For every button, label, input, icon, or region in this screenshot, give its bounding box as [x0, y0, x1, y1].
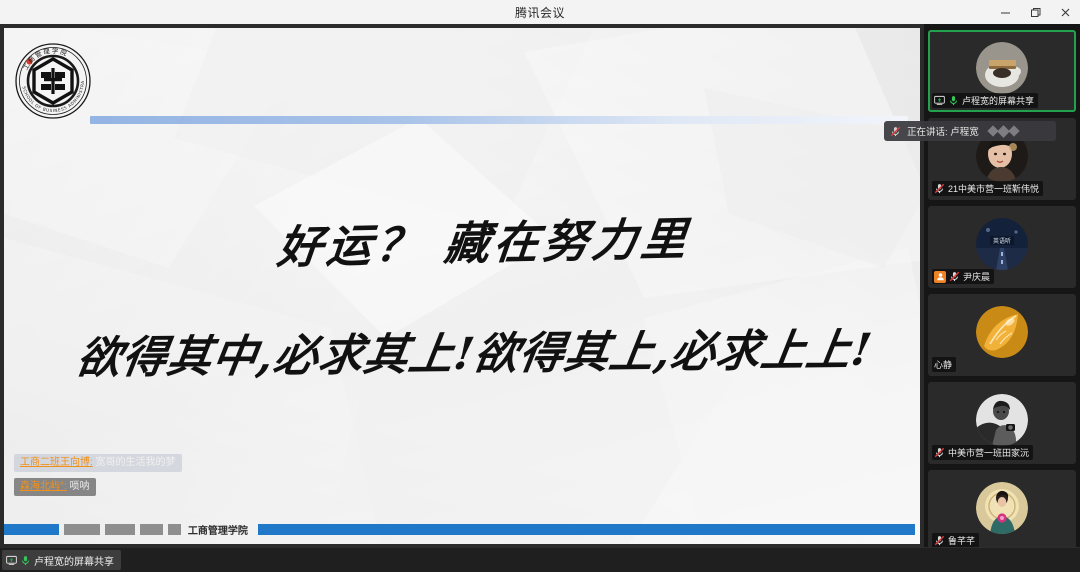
participant-name: 卢程宽的屏幕共享 — [962, 94, 1034, 107]
participant-name: 中美市营一班田家沅 — [948, 446, 1029, 459]
screen-share-icon — [934, 95, 945, 106]
muted-mic-icon — [949, 271, 960, 282]
chat-body: 唢呐 — [67, 481, 90, 492]
chat-overlay: 工商二班王向博: 宽哥的生活我的梦 森海北屿°: 唢呐 — [14, 452, 434, 500]
participant-tile[interactable]: 心静 — [928, 294, 1076, 376]
speaking-tooltip-text: 正在讲话: 卢程宽 — [907, 124, 979, 138]
slide-headline-primary: 好运？ 藏在努力里 — [275, 202, 694, 276]
close-button[interactable] — [1050, 0, 1080, 24]
participant-label: 中美市营一班田家沅 — [932, 445, 1033, 460]
footer-segment — [168, 524, 181, 535]
avatar — [976, 482, 1028, 534]
participant-name: 心静 — [934, 358, 952, 371]
chat-body: 宽哥的生活我的梦 — [93, 457, 176, 468]
participant-tile[interactable]: 英语听 尹庆晨 — [928, 206, 1076, 288]
footer-segment — [64, 524, 100, 535]
taskbar-item-screen-share[interactable]: 卢程宽的屏幕共享 — [2, 550, 121, 570]
taskbar-item-label: 卢程宽的屏幕共享 — [34, 553, 114, 568]
window-title: 腾讯会议 — [515, 4, 565, 21]
svg-text:英语听: 英语听 — [993, 237, 1011, 245]
mic-icon — [20, 555, 31, 566]
avatar — [976, 306, 1028, 358]
footer-segment — [105, 524, 135, 535]
participant-name: 鲁芊芊 — [948, 534, 975, 547]
participant-label: 心静 — [932, 357, 956, 372]
footer-label: 工商管理学院 — [188, 522, 248, 537]
mic-icon — [948, 95, 959, 106]
tencent-meeting-window: 腾讯会议 — [0, 0, 1080, 572]
shared-screen-stage: 工商管理学院 SCHOOL OF BUSINESS ADMINISTRATION… — [0, 24, 924, 548]
participants-panel[interactable]: 卢程宽的屏幕共享 — [924, 24, 1080, 548]
participant-label: 卢程宽的屏幕共享 — [932, 93, 1038, 108]
school-logo: 工商管理学院 SCHOOL OF BUSINESS ADMINISTRATION — [14, 42, 92, 120]
bw-portrait-photo-icon — [976, 394, 1028, 446]
road-photo-icon: 英语听 — [976, 218, 1028, 270]
restore-icon — [1030, 7, 1041, 18]
participant-tile[interactable]: 中美市营一班田家沅 — [928, 382, 1076, 464]
participant-name: 尹庆晨 — [963, 270, 990, 283]
participant-label: 鲁芊芊 — [932, 533, 979, 548]
minimize-button[interactable] — [990, 0, 1020, 24]
restore-button[interactable] — [1020, 0, 1050, 24]
participant-name: 21中美市营一班靳伟悦 — [948, 182, 1039, 195]
leaf-photo-icon — [976, 306, 1028, 358]
host-badge-icon — [934, 271, 946, 283]
slide-headline-secondary: 欲得其中,必求其上!欲得其上,必求上上! — [73, 314, 877, 386]
audio-wave-icon — [989, 127, 1018, 136]
avatar: 英语听 — [976, 218, 1028, 270]
footer-segment — [258, 524, 915, 535]
avatar — [976, 394, 1028, 446]
chat-sender: 工商二班王向博: — [20, 457, 93, 468]
screen-share-icon — [6, 555, 17, 566]
title-bar: 腾讯会议 — [0, 0, 1080, 25]
school-emblem-icon: 工商管理学院 SCHOOL OF BUSINESS ADMINISTRATION — [14, 42, 92, 120]
window-controls — [990, 0, 1080, 24]
slide-top-rule — [90, 116, 908, 124]
participant-label: 21中美市营一班靳伟悦 — [932, 181, 1043, 196]
footer-segment — [4, 524, 59, 535]
chat-message: 森海北屿°: 唢呐 — [14, 478, 96, 496]
flower-portrait-photo-icon — [976, 482, 1028, 534]
participant-tile[interactable]: 鲁芊芊 — [928, 470, 1076, 552]
chat-message: 工商二班王向博: 宽哥的生活我的梦 — [14, 454, 182, 472]
speaking-tooltip: 正在讲话: 卢程宽 — [884, 121, 1056, 141]
taskbar: 卢程宽的屏幕共享 — [0, 547, 1080, 572]
minimize-icon — [1000, 7, 1011, 18]
participant-tile[interactable]: 卢程宽的屏幕共享 — [928, 30, 1076, 112]
close-icon — [1060, 7, 1071, 18]
teacup-photo-icon — [976, 42, 1028, 94]
slide-footer: 工商管理学院 — [4, 522, 920, 536]
muted-mic-icon — [934, 447, 945, 458]
muted-mic-icon — [890, 126, 901, 137]
presentation-slide: 工商管理学院 SCHOOL OF BUSINESS ADMINISTRATION… — [4, 28, 920, 544]
footer-segment — [140, 524, 163, 535]
avatar — [976, 42, 1028, 94]
muted-mic-icon — [934, 183, 945, 194]
muted-mic-icon — [934, 535, 945, 546]
participant-label: 尹庆晨 — [932, 269, 994, 284]
chat-sender: 森海北屿°: — [20, 481, 67, 492]
host-person-icon — [936, 272, 945, 281]
